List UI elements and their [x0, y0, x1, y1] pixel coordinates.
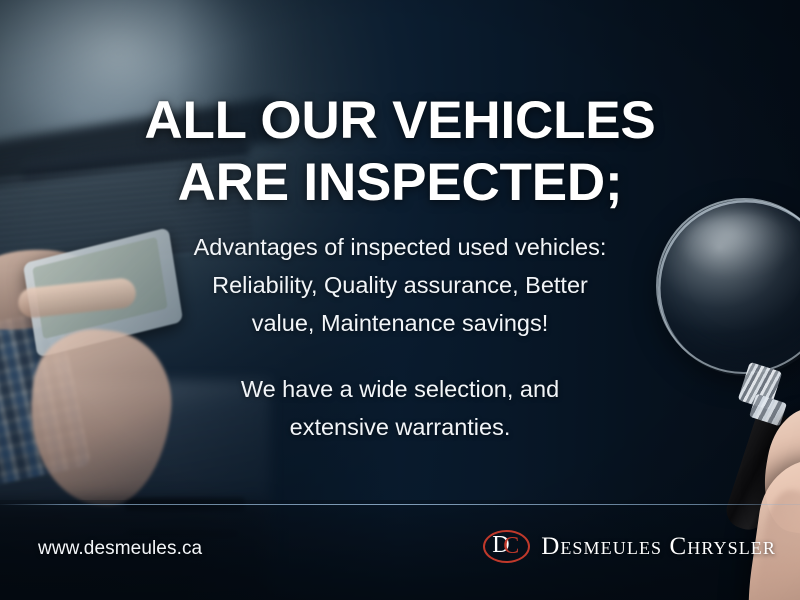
paragraph-advantages-line-1: Advantages of inspected used vehicles:: [86, 228, 714, 266]
promo-banner: ALL OUR VEHICLES ARE INSPECTED; Advantag…: [0, 0, 800, 600]
dealer-name: Desmeules Chrysler: [541, 533, 776, 561]
dc-monogram-icon: D C: [483, 530, 530, 563]
page-title: ALL OUR VEHICLES ARE INSPECTED;: [0, 92, 800, 213]
paragraph-selection: We have a wide selection, and extensive …: [86, 370, 714, 446]
paragraph-advantages: Advantages of inspected used vehicles: R…: [86, 228, 714, 342]
headline-line-2: ARE INSPECTED;: [0, 154, 800, 212]
paragraph-advantages-line-3: value, Maintenance savings!: [86, 304, 714, 342]
monogram-letter-c: C: [503, 534, 519, 558]
paragraph-selection-line-2: extensive warranties.: [86, 408, 714, 446]
footer-divider: [0, 504, 800, 505]
headline-line-1: ALL OUR VEHICLES: [0, 92, 800, 150]
paragraph-selection-line-1: We have a wide selection, and: [86, 370, 714, 408]
paragraph-advantages-line-2: Reliability, Quality assurance, Better: [86, 266, 714, 304]
website-url[interactable]: www.desmeules.ca: [38, 538, 202, 560]
dealer-logo[interactable]: D C Desmeules Chrysler: [483, 530, 776, 563]
body-copy: Advantages of inspected used vehicles: R…: [86, 228, 714, 446]
